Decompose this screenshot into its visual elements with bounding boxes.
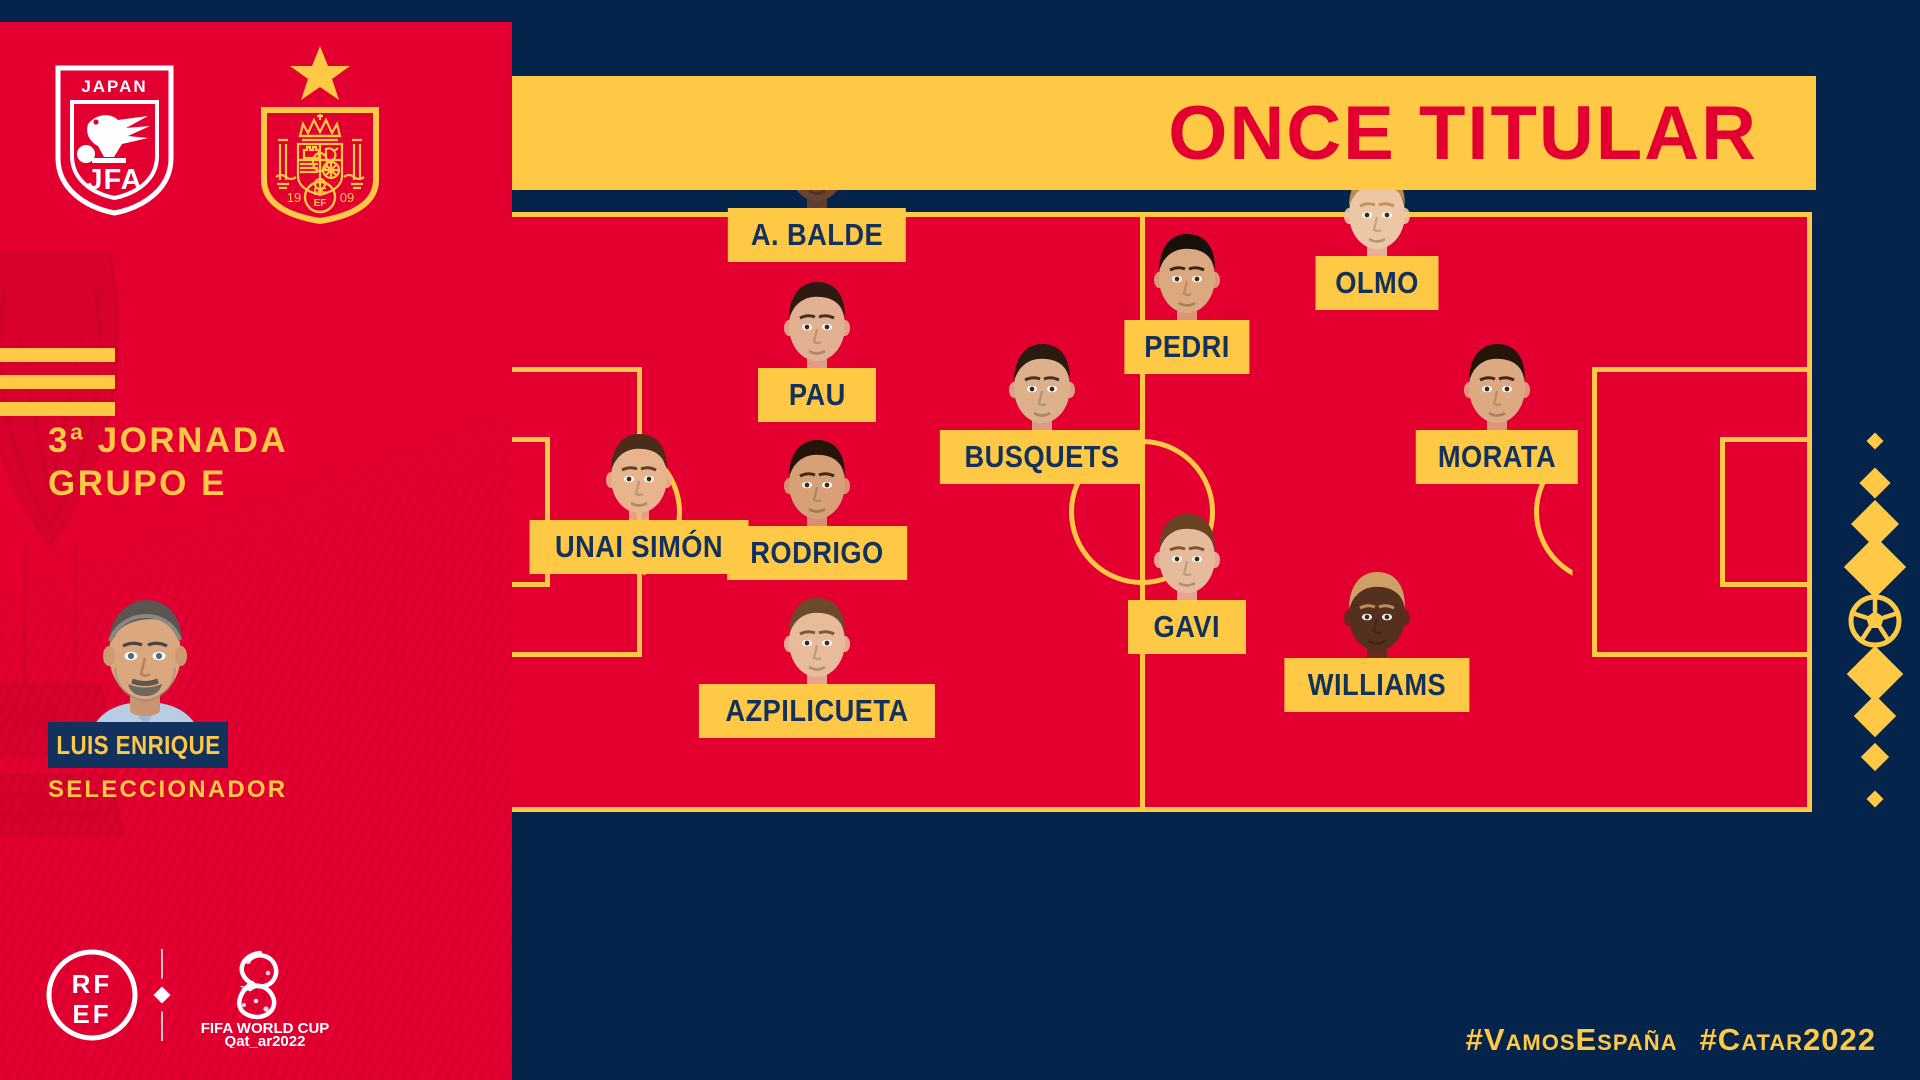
rfef-logo-icon: RF EF: [44, 947, 140, 1043]
top-navy-strip: [0, 0, 1920, 22]
coach-name: LUIS ENRIQUE: [56, 730, 220, 761]
player-name-pedri: PEDRI: [1144, 329, 1230, 365]
main-area: ONCE TITULAR: [512, 22, 1920, 1080]
svg-text:RF: RF: [72, 969, 113, 999]
player-name-williams: WILLIAMS: [1308, 667, 1446, 703]
matchday-line-2: GRUPO E: [48, 463, 468, 506]
coach-name-plate: LUIS ENRIQUE: [48, 722, 228, 768]
player-name-plate-gavi: GAVI: [1128, 600, 1246, 654]
fifa-world-cup-qatar-2022-logo: TM FIFA WORLD CUP Qat_ar2022: [190, 943, 340, 1048]
svg-text:RF: RF: [313, 187, 326, 198]
player-name-plate-pedri: PEDRI: [1124, 320, 1249, 374]
svg-text:TM: TM: [240, 986, 250, 993]
svg-text:19: 19: [287, 190, 301, 205]
hashtag-vamos-espana: #VamosEspaña: [1466, 1022, 1678, 1057]
player-name-plate-morata: MORATA: [1416, 430, 1578, 484]
player-williams[interactable]: WILLIAMS: [1302, 512, 1452, 712]
page-title: ONCE TITULAR: [1168, 90, 1816, 177]
flag-bar-2: [0, 375, 115, 389]
decor-diamond-4: [1840, 545, 1910, 589]
player-pedri[interactable]: PEDRI: [1112, 174, 1262, 374]
svg-text:EF: EF: [72, 999, 111, 1029]
player-name-azpilicueta: AZPILICUETA: [725, 693, 908, 729]
player-busquets[interactable]: BUSQUETS: [967, 284, 1117, 484]
decor-diamond-column: [1830, 420, 1920, 820]
player-name-olmo: OLMO: [1335, 265, 1419, 301]
matchday-line-1: 3ª JORNADA: [48, 420, 468, 463]
logo-separator: [140, 947, 184, 1043]
player-name-busquets: BUSQUETS: [964, 439, 1119, 475]
player-name-unai-simon: UNAI SIMÓN: [555, 529, 723, 565]
decor-diamond-7: [1840, 695, 1910, 737]
player-unai-simon[interactable]: UNAI SIMÓN: [564, 374, 714, 574]
decor-diamond-1: [1840, 420, 1910, 462]
flag-bar-1: [0, 348, 115, 362]
coach-block: LUIS ENRIQUE SELECCIONADOR: [0, 560, 512, 820]
team-crests: JAPAN JFA: [0, 22, 512, 242]
svg-text:JAPAN: JAPAN: [81, 77, 147, 96]
svg-text:EF: EF: [314, 198, 327, 209]
matchday-info: 3ª JORNADA GRUPO E: [48, 420, 468, 505]
wc-logo-line2: Qat_ar2022: [225, 1033, 306, 1048]
pitch-right-goal-area: [1720, 437, 1812, 587]
rfef-crest-icon: RF EF 19 09: [250, 44, 390, 224]
player-name-plate-olmo: OLMO: [1316, 256, 1439, 310]
flag-bars-decor: [0, 348, 115, 429]
player-name-morata: MORATA: [1438, 439, 1556, 475]
decor-diamond-6: [1840, 653, 1910, 695]
hashtag-catar-2022: #Catar2022: [1700, 1022, 1876, 1057]
decor-diamond-8: [1840, 736, 1910, 778]
footer-logos: RF EF: [44, 940, 374, 1050]
player-gavi[interactable]: GAVI: [1112, 454, 1262, 654]
lineup-graphic: FIFA CUP JAPAN JFA: [0, 0, 1920, 1080]
svg-text:JFA: JFA: [86, 164, 142, 196]
decor-diamond-9: [1840, 778, 1910, 820]
svg-text:09: 09: [340, 190, 354, 205]
decor-diamond-2: [1840, 462, 1910, 504]
player-morata[interactable]: MORATA: [1422, 284, 1572, 484]
player-name-gavi: GAVI: [1154, 609, 1220, 645]
coach-role: SELECCIONADOR: [48, 776, 368, 804]
soccer-ball-icon: [1840, 589, 1910, 653]
player-name-plate-williams: WILLIAMS: [1284, 658, 1469, 712]
footer-hashtags: #VamosEspaña#Catar2022: [1466, 1022, 1876, 1058]
jfa-crest-icon: JAPAN JFA: [52, 62, 177, 217]
flag-bar-3: [0, 402, 115, 416]
player-name-plate-azpilicueta: AZPILICUETA: [699, 684, 935, 738]
player-name-plate-unai-simon: UNAI SIMÓN: [530, 520, 749, 574]
title-banner: ONCE TITULAR: [452, 76, 1816, 190]
player-azpilicueta[interactable]: AZPILICUETA: [742, 538, 892, 738]
left-info-panel: FIFA CUP JAPAN JFA: [0, 0, 512, 1080]
